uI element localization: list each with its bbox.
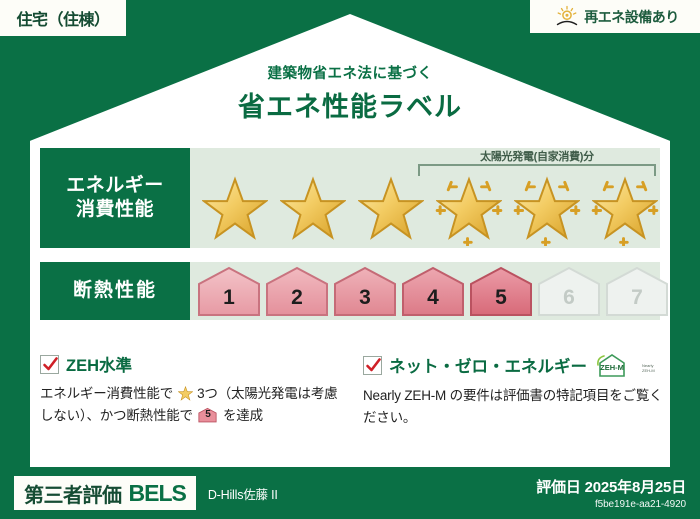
checkmark-icon [42, 356, 59, 373]
footer-evaluation-info: 評価日 2025年8月25日 f5be191e-aa21-4920 [536, 476, 686, 510]
star-icon [592, 176, 658, 242]
insulation-level-2-number: 2 [264, 286, 330, 310]
label-title-subtitle: 建築物省エネ法に基づく [0, 62, 700, 83]
solar-bracket-label: 太陽光発電(自家消費)分 [418, 148, 656, 164]
energy-performance-label-line1: エネルギー [66, 174, 164, 198]
star-icon [280, 176, 346, 242]
insulation-level-3: 3 [332, 266, 398, 316]
building-type-tag: 住宅（住棟） [0, 0, 126, 36]
energy-star-4-solar [430, 173, 508, 245]
star-icon [514, 176, 580, 242]
evaluation-date-label: 評価日 [536, 479, 580, 496]
insulation-level-3-number: 3 [332, 286, 398, 310]
insulation-performance-panel: 1 2 3 [190, 262, 660, 320]
property-name: D-Hills佐藤 II [208, 484, 278, 503]
energy-star-6-solar [586, 173, 664, 245]
insulation-level-4: 4 [400, 266, 466, 316]
renewable-equipment-tag: 再エネ設備あり [530, 0, 700, 33]
insulation-level-5: 5 [468, 266, 534, 316]
insulation-level-1: 1 [196, 266, 262, 316]
label-title-block: 建築物省エネ法に基づく 省エネ性能ラベル [0, 62, 700, 124]
insulation-performance-label: 断熱性能 [40, 262, 190, 320]
zeh-standard-title: ZEH水準 [66, 352, 132, 376]
svg-text:ZEH-M: ZEH-M [600, 363, 624, 372]
building-type-tag-label: 住宅（住棟） [16, 6, 109, 30]
insulation-level-7-number: 7 [604, 286, 670, 310]
evaluation-date: 評価日 2025年8月25日 [536, 476, 686, 497]
insulation-level-4-number: 4 [400, 286, 466, 310]
net-zero-energy-checkbox[interactable] [363, 356, 382, 375]
zeh-body-part1: エネルギー消費性能で [40, 386, 173, 401]
zeh-standard-check-head: ZEH水準 [40, 352, 340, 376]
energy-star-3 [352, 173, 430, 245]
energy-star-1 [196, 173, 274, 245]
insulation-performance-label-text: 断熱性能 [73, 279, 157, 303]
energy-star-rating [190, 172, 660, 246]
svg-text:ZEH-M: ZEH-M [642, 368, 655, 373]
star-icon [436, 176, 502, 242]
energy-performance-label: エネルギー 消費性能 [40, 148, 190, 248]
zeh-body-part3: を達成 [223, 408, 263, 423]
checkmark-icon [365, 357, 382, 374]
net-zero-energy-check-block: ネット・ゼロ・エネルギー ZEH-M Nearly ZEH-M Nearly Z… [363, 352, 663, 429]
zeh-m-logo-icon: ZEH-M Nearly ZEH-M [596, 352, 658, 378]
insulation-level-6: 6 [536, 266, 602, 316]
energy-performance-label-line2: 消費性能 [76, 198, 154, 222]
insulation-level-scale: 1 2 3 [190, 262, 660, 320]
star-icon [202, 176, 268, 242]
renewable-equipment-tag-label: 再エネ設備あり [584, 7, 679, 27]
insulation-level-5-number: 5 [468, 286, 534, 310]
energy-star-2 [274, 173, 352, 245]
label-title-main: 省エネ性能ラベル [0, 85, 700, 124]
energy-performance-label-card: 住宅（住棟） 再エネ設備あり 建築物省エネ法に基づく 省エネ性能ラベル エネルギ… [0, 0, 700, 519]
evaluation-date-value: 2025年8月25日 [585, 479, 686, 496]
energy-star-5-solar [508, 173, 586, 245]
zeh-standard-body: エネルギー消費性能で 3つ（太陽光発電は考慮しない）、かつ断熱性能で 5 を達成 [40, 383, 340, 427]
star-icon [358, 176, 424, 242]
zeh-standard-checkbox[interactable] [40, 355, 59, 374]
inline-house-badge: 5 [198, 407, 217, 423]
evaluation-id: f5be191e-aa21-4920 [536, 499, 686, 510]
insulation-level-1-number: 1 [196, 286, 262, 310]
bels-certification-box: 第三者評価 BELS [14, 476, 196, 510]
bels-mark: BELS [129, 480, 186, 507]
net-zero-energy-title: ネット・ゼロ・エネルギー [389, 353, 587, 377]
insulation-level-2: 2 [264, 266, 330, 316]
label-footer: 第三者評価 BELS D-Hills佐藤 II 評価日 2025年8月25日 f… [0, 467, 700, 519]
energy-performance-row: エネルギー 消費性能 太陽光発電(自家消費)分 [40, 148, 660, 248]
net-zero-energy-check-head: ネット・ゼロ・エネルギー ZEH-M Nearly ZEH-M [363, 352, 663, 378]
inline-house-number: 5 [198, 407, 217, 423]
sun-solar-icon [555, 5, 579, 29]
insulation-level-6-number: 6 [536, 286, 602, 310]
energy-performance-panel: 太陽光発電(自家消費)分 [190, 148, 660, 248]
insulation-level-7: 7 [604, 266, 670, 316]
net-zero-energy-body: Nearly ZEH-M の要件は評価書の特記項目をご覧ください。 [363, 385, 663, 429]
inline-star-icon [178, 386, 193, 401]
third-party-evaluation-label: 第三者評価 [24, 479, 122, 508]
insulation-performance-row: 断熱性能 1 2 [40, 262, 660, 320]
zeh-standard-check-block: ZEH水準 エネルギー消費性能で 3つ（太陽光発電は考慮しない）、かつ断熱性能で… [40, 352, 340, 427]
